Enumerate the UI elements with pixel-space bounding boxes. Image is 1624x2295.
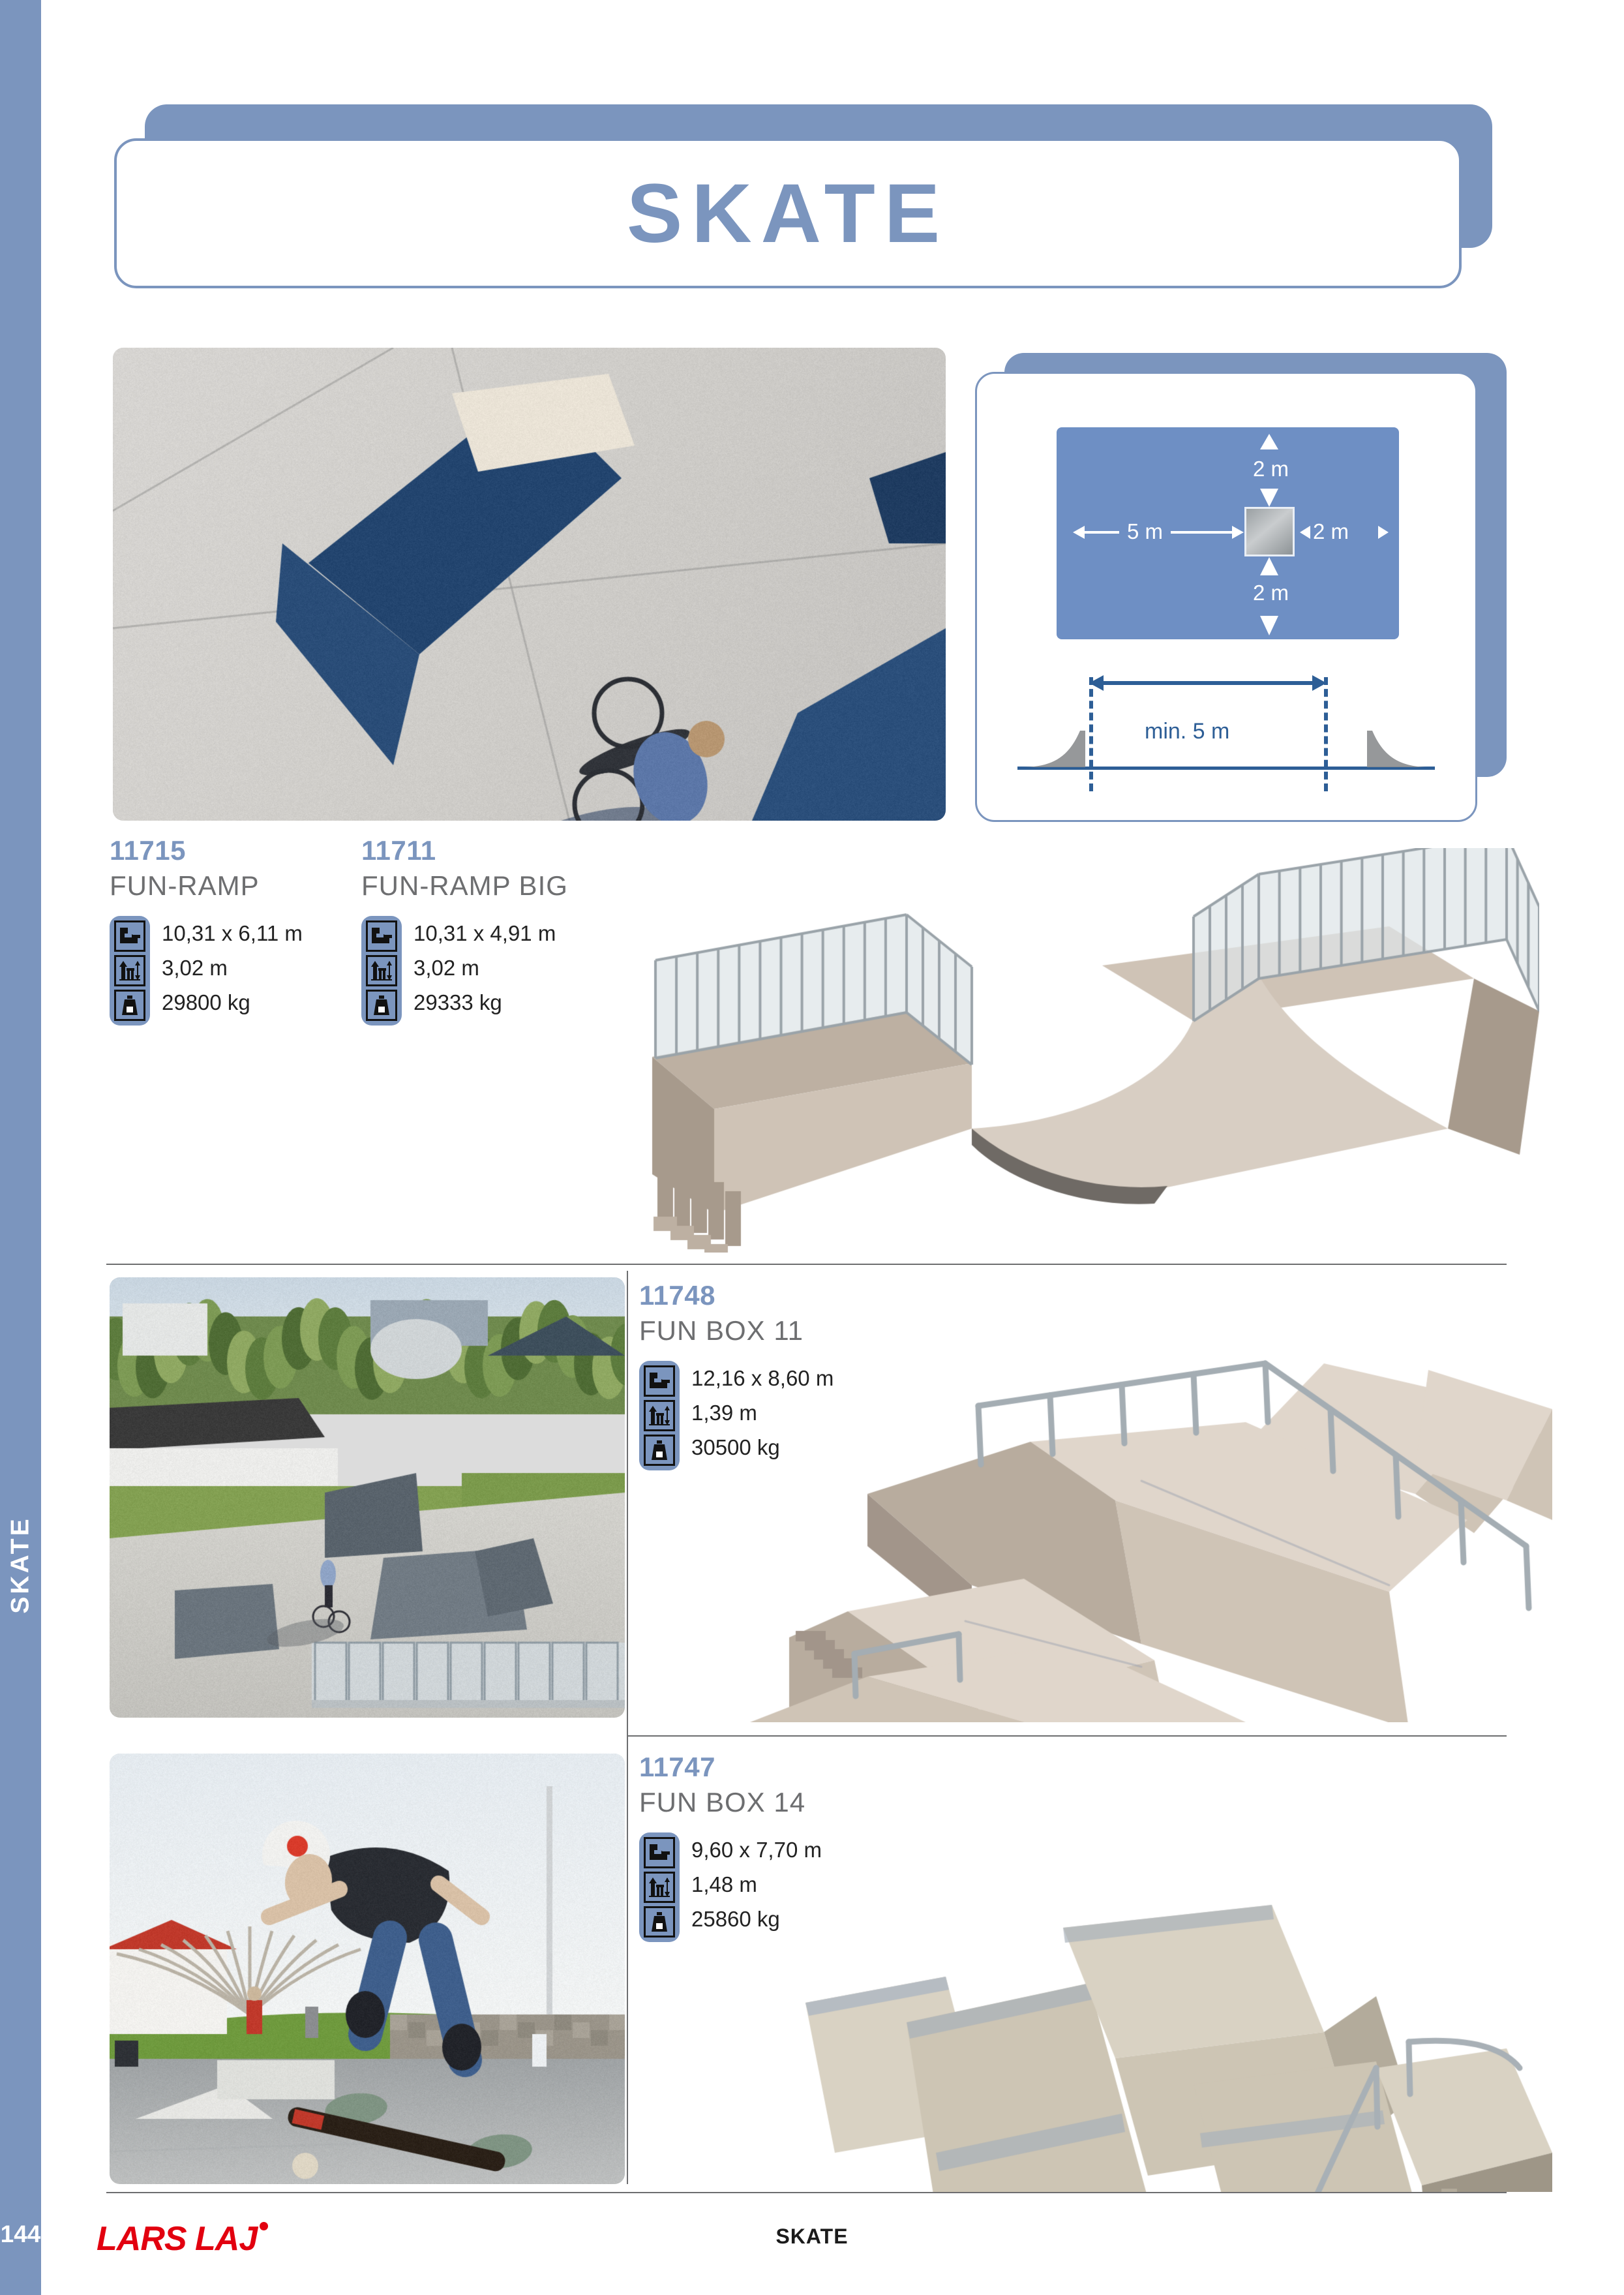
fall-height-icon <box>114 955 145 986</box>
page-title: SKATE <box>627 166 949 262</box>
section-dash-left <box>1089 677 1093 791</box>
clearance-label-right: 2 m <box>1313 519 1349 544</box>
fall-height-icon <box>366 955 397 986</box>
spec-icon-rail <box>361 916 402 1026</box>
ramp-profile-left-icon <box>1017 729 1089 768</box>
catalog-page: SKATE 144 SKATE 2 m 2 m 5 m 2 m <box>0 0 1624 2295</box>
header-panel: SKATE <box>114 138 1462 288</box>
fall-height-icon <box>644 1400 675 1431</box>
section-dimension-arrow <box>1089 672 1327 694</box>
photo-skatepark-overview <box>110 1277 625 1718</box>
product-specs: 10,31 x 6,11 m 3,02 m 29800 kg <box>110 916 357 1026</box>
render-fun-box-11 <box>750 1305 1552 1722</box>
product-name: FUN-RAMP BIG <box>361 870 622 902</box>
clearance-arrow-bottom-inner-icon <box>1259 557 1280 579</box>
render-fun-ramp <box>607 848 1539 1253</box>
product-name: FUN-RAMP <box>110 870 357 902</box>
weight-icon <box>366 990 397 1021</box>
spec-height-value: 3,02 m <box>162 950 303 985</box>
photo-bmx-aerial <box>113 348 946 821</box>
photo-skateboarder-canvas <box>110 1754 625 2184</box>
footprint-area-icon <box>644 1837 675 1868</box>
clearance-label-top: 2 m <box>1253 457 1289 481</box>
spec-icon-rail <box>639 1361 680 1470</box>
spec-height-value: 3,02 m <box>414 950 556 985</box>
weight-icon <box>114 990 145 1021</box>
product-specs: 10,31 x 4,91 m 3,02 m 29333 kg <box>361 916 622 1026</box>
product-block-11711: 11711 FUN-RAMP BIG <box>361 835 622 1026</box>
spec-values: 10,31 x 4,91 m 3,02 m 29333 kg <box>414 916 556 1026</box>
photo-skatepark-overview-canvas <box>110 1277 625 1718</box>
section-min-distance-label: min. 5 m <box>1145 719 1229 744</box>
sidebar-category-text: SKATE <box>7 1516 35 1613</box>
photo-bmx-aerial-canvas <box>113 348 946 821</box>
spec-area-value: 10,31 x 6,11 m <box>162 916 303 950</box>
clearance-arrow-top-inner-icon <box>1259 486 1280 508</box>
spec-icon-rail <box>110 916 150 1026</box>
render-fun-box-14 <box>750 1787 1552 2192</box>
product-code: 11747 <box>639 1752 913 1783</box>
footer-divider <box>106 2192 1507 2193</box>
equipment-footprint-marker <box>1244 507 1295 556</box>
fall-height-icon <box>644 1872 675 1903</box>
spec-area-value: 10,31 x 4,91 m <box>414 916 556 950</box>
spec-icon-rail <box>639 1832 680 1942</box>
footprint-area-icon <box>644 1365 675 1397</box>
footprint-area-icon <box>114 920 145 952</box>
sidebar-category-label: SKATE <box>0 0 41 2295</box>
product-block-11715: 11715 FUN-RAMP <box>110 835 357 1026</box>
weight-icon <box>644 1435 675 1466</box>
clearance-label-bottom: 2 m <box>1253 581 1289 605</box>
section-divider-middle <box>627 1735 1507 1737</box>
weight-icon <box>644 1906 675 1938</box>
spec-weight-value: 29333 kg <box>414 985 556 1020</box>
clearance-label-left: 5 m <box>1119 519 1171 544</box>
clearance-arrow-bottom-icon <box>1259 607 1280 637</box>
product-code: 11715 <box>110 835 357 866</box>
spec-weight-value: 29800 kg <box>162 985 303 1020</box>
spec-values: 10,31 x 6,11 m 3,02 m 29800 kg <box>162 916 303 1026</box>
photo-skateboarder <box>110 1754 625 2184</box>
section-elevation-diagram: min. 5 m <box>1017 672 1435 793</box>
section-dash-right <box>1324 677 1328 791</box>
ramp-profile-right-icon <box>1363 729 1435 768</box>
footer-category-label: SKATE <box>0 2225 1624 2249</box>
column-divider <box>627 1271 628 2184</box>
footprint-area-icon <box>366 920 397 952</box>
product-code: 11711 <box>361 835 622 866</box>
section-divider-top <box>106 1264 1507 1265</box>
